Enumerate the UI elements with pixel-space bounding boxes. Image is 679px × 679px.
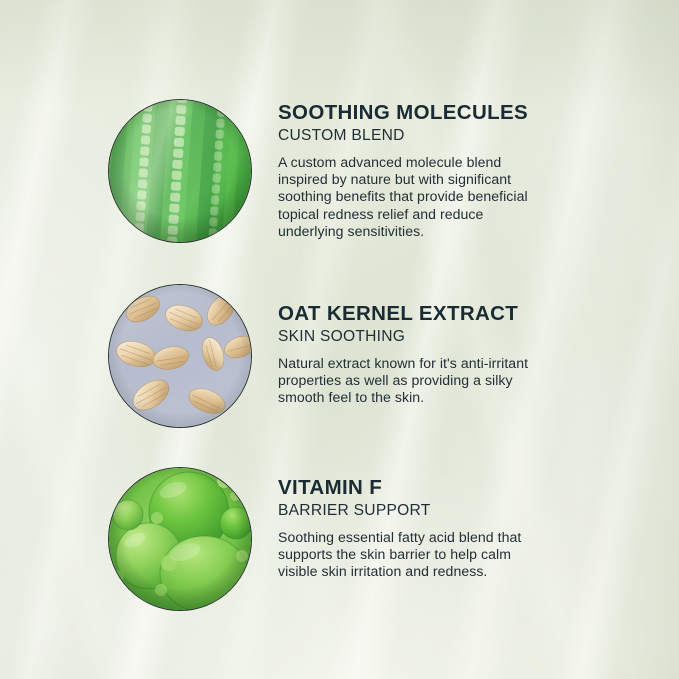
ingredient-heading: SOOTHING MOLECULES xyxy=(278,102,568,124)
ingredient-text-block: SOOTHING MOLECULES CUSTOM BLEND A custom… xyxy=(278,102,568,241)
ingredient-heading: OAT KERNEL EXTRACT xyxy=(278,303,568,325)
ingredient-subheading: CUSTOM BLEND xyxy=(278,128,568,145)
ingredient-description: A custom advanced molecule blend inspire… xyxy=(278,154,550,241)
ingredient-text-block: VITAMIN F BARRIER SUPPORT Soothing essen… xyxy=(278,477,568,581)
ingredient-heading: VITAMIN F xyxy=(278,477,568,499)
leaf-cell-microscopy-thumbnail xyxy=(108,99,252,243)
oat-flakes-thumbnail xyxy=(108,284,252,428)
ingredient-description: Natural extract known for it's anti-irri… xyxy=(278,355,550,407)
ingredient-description: Soothing essential fatty acid blend that… xyxy=(278,529,550,581)
ingredient-infographic: SOOTHING MOLECULES CUSTOM BLEND A custom… xyxy=(0,0,679,679)
ingredient-subheading: BARRIER SUPPORT xyxy=(278,503,568,520)
green-oil-droplets-thumbnail xyxy=(108,467,252,611)
ingredient-subheading: SKIN SOOTHING xyxy=(278,329,568,346)
ingredient-text-block: OAT KERNEL EXTRACT SKIN SOOTHING Natural… xyxy=(278,303,568,407)
